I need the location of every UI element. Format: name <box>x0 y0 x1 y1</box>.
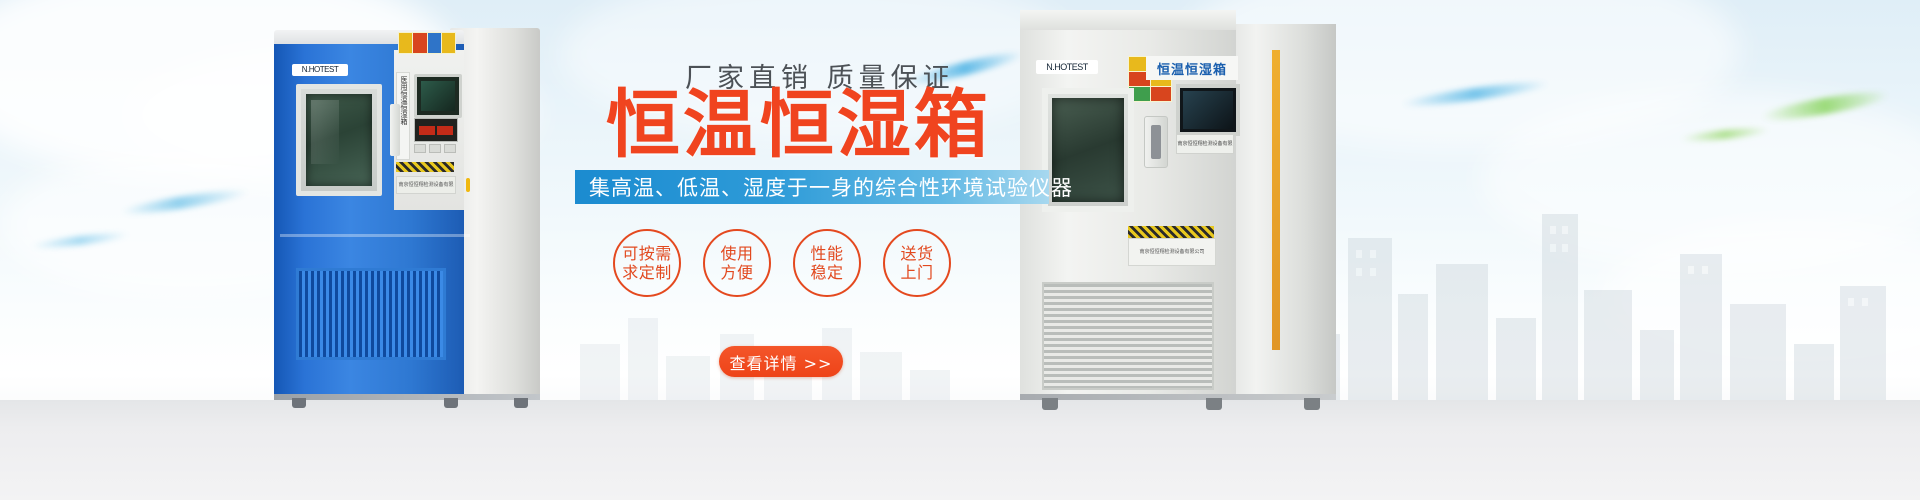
feature-badge-stable[interactable]: 性能 稳定 <box>793 229 861 297</box>
banner-subtitle-bar: 集高温、低温、湿度于一身的综合性环境试验仪器 <box>575 170 1049 204</box>
chamber-left-leg <box>514 398 528 408</box>
chamber-right-panel-title: 恒温恒湿箱 <box>1146 56 1238 80</box>
chamber-left-body: N.HOTEST 医用恒温恒湿箱 南京恒恒翔检测设备有限公司 <box>274 44 464 400</box>
chamber-left-warning-stripe <box>396 162 454 172</box>
view-details-button[interactable]: 查看详情 >> <box>719 346 843 377</box>
badge-line-2: 求定制 <box>622 263 672 282</box>
chamber-right-accent-stripe <box>1272 50 1280 350</box>
chamber-right-leg <box>1304 398 1320 410</box>
chamber-left-indicator <box>466 178 470 192</box>
chamber-right-top <box>1020 10 1236 32</box>
badge-line-1: 使用 <box>720 244 753 263</box>
swoosh-decoration <box>120 186 250 218</box>
chamber-left-safety-stickers <box>398 32 456 54</box>
ground-surface <box>0 400 1920 500</box>
swoosh-decoration <box>1760 87 1891 125</box>
badge-line-2: 上门 <box>900 263 933 282</box>
swoosh-decoration <box>1400 78 1550 111</box>
feature-badge-custom[interactable]: 可按需 求定制 <box>613 229 681 297</box>
swoosh-decoration <box>1680 125 1770 143</box>
chamber-right-door-handle[interactable] <box>1144 116 1168 168</box>
promo-banner: N.HOTEST 医用恒温恒湿箱 南京恒恒翔检测设备有限公司 <box>0 0 1920 500</box>
banner-subtitle-text: 集高温、低温、湿度于一身的综合性环境试验仪器 <box>575 172 1073 202</box>
chamber-left-door-handle[interactable] <box>390 104 400 156</box>
chamber-right-nameplate: 南京恒恒翔检测设备有限公司 <box>1128 238 1216 266</box>
feature-badge-easy-use[interactable]: 使用 方便 <box>703 229 771 297</box>
chamber-right-warning-stripe <box>1128 226 1214 238</box>
badge-line-2: 稳定 <box>810 263 843 282</box>
badge-line-1: 性能 <box>810 244 843 263</box>
chamber-left-leg <box>444 398 458 408</box>
feature-badge-delivery[interactable]: 送货 上门 <box>883 229 951 297</box>
banner-copy-block: 厂家直销 质量保证 恒温恒湿箱 集高温、低温、湿度于一身的综合性环境试验仪器 可… <box>575 46 1075 406</box>
badge-line-1: 送货 <box>900 244 933 263</box>
badge-line-1: 可按需 <box>622 244 672 263</box>
banner-headline: 恒温恒湿箱 <box>606 88 991 162</box>
chamber-left-nameplate: 南京恒恒翔检测设备有限公司 <box>396 176 456 194</box>
chamber-left-base <box>274 394 540 400</box>
chamber-right-touchscreen[interactable] <box>1176 84 1240 136</box>
chamber-left-seam <box>280 234 470 237</box>
badge-line-2: 方便 <box>720 263 753 282</box>
chamber-left-door-window <box>306 94 372 186</box>
chamber-left-brand-logo: N.HOTEST <box>292 64 348 76</box>
chamber-right-side-panel <box>1228 24 1336 398</box>
chamber-left-digital-readout <box>414 118 458 142</box>
chamber-right-leg <box>1206 398 1222 410</box>
swoosh-decoration <box>30 230 130 251</box>
chamber-left-door[interactable] <box>296 84 382 196</box>
chamber-right-sub-plate: 南京恒恒翔检测设备有限公司 <box>1176 134 1234 154</box>
feature-badge-list: 可按需 求定制 使用 方便 性能 稳定 送货 上门 <box>613 229 951 297</box>
chamber-left-buttons[interactable] <box>414 144 456 156</box>
chamber-left-touchscreen[interactable] <box>414 74 462 118</box>
product-image-left-chamber: N.HOTEST 医用恒温恒湿箱 南京恒恒翔检测设备有限公司 <box>268 28 540 406</box>
chamber-left-leg <box>292 398 306 408</box>
chamber-left-vent-grill <box>296 268 446 360</box>
